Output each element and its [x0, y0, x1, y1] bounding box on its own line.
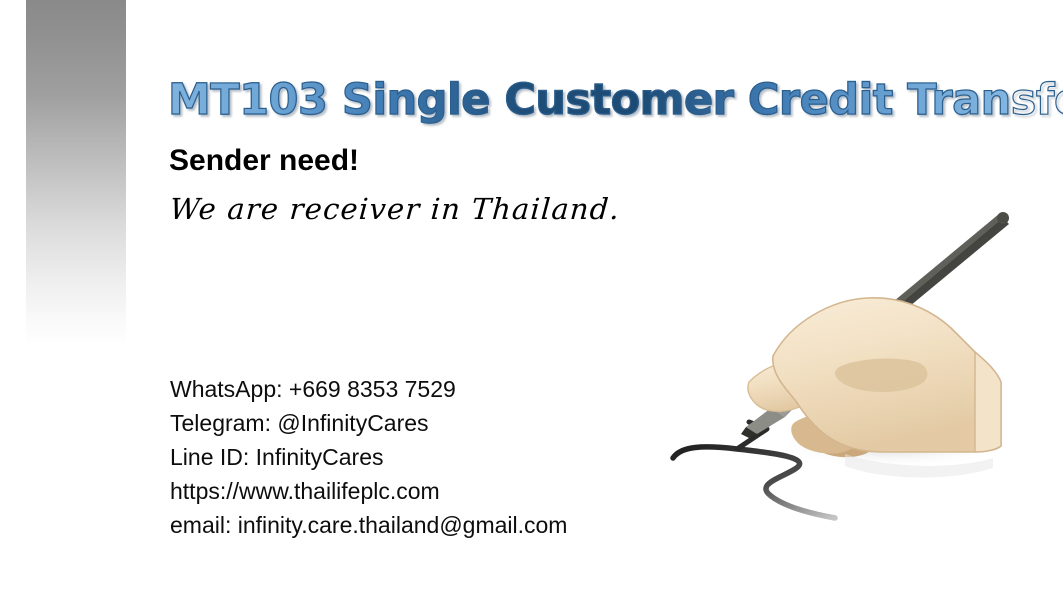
slide-canvas: MT103 Single Customer Credit Transfer Se… [0, 0, 1063, 600]
hand-writing-with-pen-icon [645, 196, 1045, 536]
sender-heading: Sender need! [169, 144, 359, 178]
receiver-script-line: We are receiver in Thailand. [169, 192, 621, 226]
wrist-edge [975, 352, 1001, 452]
page-title: MT103 Single Customer Credit Transfer [168, 78, 1008, 123]
pen-top-cap [997, 212, 1009, 224]
gradient-bar [26, 0, 126, 346]
